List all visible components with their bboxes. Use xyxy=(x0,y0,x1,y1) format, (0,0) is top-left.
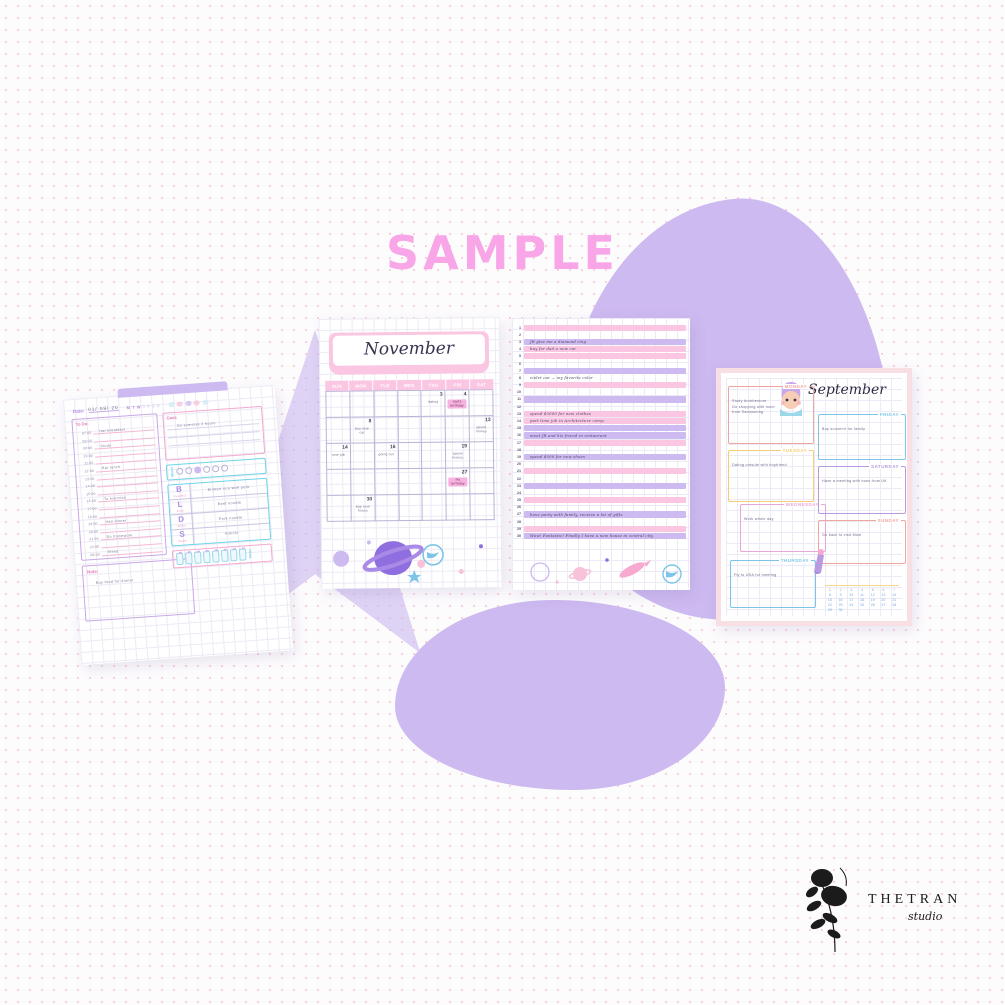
mini-calendar-day[interactable]: 16 xyxy=(836,598,846,602)
wish-row-number: 27 xyxy=(512,512,524,516)
mini-calendar-day[interactable]: 17 xyxy=(846,598,856,602)
calendar-day-number: 27 xyxy=(448,469,467,475)
calendar-cell[interactable]: 30buy new house xyxy=(351,495,375,521)
wish-row-bar[interactable]: have party with family, receive a lot of… xyxy=(524,511,686,517)
wish-row-number: 19 xyxy=(512,455,524,459)
weekday-header-sun: SUN xyxy=(325,381,349,391)
weekday-header-mon: MON xyxy=(349,380,373,390)
wish-list-row[interactable]: 16meet JR and his friend in restaurant xyxy=(512,432,686,439)
wish-row-bar[interactable] xyxy=(524,404,686,410)
mini-calendar-day[interactable]: 20 xyxy=(879,598,889,602)
wish-row-number: 10 xyxy=(512,390,524,394)
wish-row-number: 2 xyxy=(512,333,524,337)
weekday-m[interactable]: M xyxy=(126,405,130,410)
cloud-icon[interactable] xyxy=(168,401,174,406)
wish-row-bar[interactable] xyxy=(524,396,686,402)
calendar-cell[interactable] xyxy=(327,496,351,522)
wish-list-rows: 123JR give me a diamond ring4buy for dad… xyxy=(512,318,690,540)
mini-calendar-day[interactable]: 23 xyxy=(836,603,846,607)
wish-list-row[interactable]: 25 xyxy=(512,497,686,504)
mini-calendar-day[interactable]: 27 xyxy=(879,603,889,607)
day-box-thursday[interactable]: THURSDAY Fly to USA for meeting xyxy=(730,560,816,608)
calendar-event: buy new house xyxy=(353,504,372,512)
day-text-saturday: Have a meeting with boss from UK xyxy=(822,479,902,485)
wish-row-bar[interactable]: spend $3000 for new clothes xyxy=(524,411,686,417)
wish-row-number: 18 xyxy=(512,448,524,452)
mini-calendar-day[interactable]: 1 xyxy=(825,588,835,592)
wish-row-bar[interactable] xyxy=(524,461,686,467)
wish-row-bar[interactable] xyxy=(524,483,686,489)
calendar-event: dad's birthday xyxy=(448,399,467,408)
wish-row-number: 15 xyxy=(512,426,524,430)
meal-tracker: BbreakfastBroken rice with porkLlunchBee… xyxy=(167,477,271,546)
wish-row-number: 20 xyxy=(512,462,524,466)
wish-list-row[interactable]: 9 xyxy=(512,382,686,389)
wish-row-bar[interactable] xyxy=(524,325,686,331)
wish-row-number: 6 xyxy=(512,362,524,366)
wish-row-number: 26 xyxy=(512,505,524,509)
mini-calendar-day[interactable]: 4 xyxy=(857,588,867,592)
logo-sub: studio xyxy=(908,910,942,923)
mini-calendar: 1234567891011121314151617181920212223242… xyxy=(825,585,899,612)
water-tracker: Water xyxy=(172,543,273,568)
face-4-icon[interactable] xyxy=(203,466,210,473)
wish-list-row[interactable]: 7 xyxy=(512,367,686,374)
wish-row-number: 23 xyxy=(512,484,524,488)
september-title: September xyxy=(808,382,886,398)
calendar-cell[interactable]: 13spend money xyxy=(470,416,494,442)
mini-calendar-day[interactable]: 9 xyxy=(836,593,846,597)
wish-list-row[interactable]: 1 xyxy=(512,324,686,331)
wish-list-row[interactable]: 19spend $500 for new shoes xyxy=(512,453,686,460)
weekday-s2[interactable]: S xyxy=(157,403,160,408)
wish-row-number: 24 xyxy=(512,491,524,495)
wish-row-bar[interactable] xyxy=(524,440,686,446)
day-text-thursday: Fly to USA for meeting xyxy=(734,573,812,579)
wish-row-text: buy for dad a new car xyxy=(530,346,576,351)
space-illustration-list xyxy=(512,548,690,588)
wish-row-bar[interactable] xyxy=(524,497,686,503)
sample-watermark: SAMPLE xyxy=(0,226,1005,280)
meal-key: Bbreakfast xyxy=(168,484,191,500)
calendar-cell[interactable] xyxy=(374,391,398,417)
day-label-saturday: SATURDAY xyxy=(869,464,901,469)
wish-row-bar[interactable]: Wow! Fantastic! Finally I have a new hou… xyxy=(524,533,686,539)
calendar-cell[interactable] xyxy=(399,495,423,521)
wish-row-number: 5 xyxy=(512,354,524,358)
wish-row-text: JR give me a diamond ring xyxy=(530,339,586,344)
calendar-cell[interactable] xyxy=(446,416,470,442)
calendar-cell[interactable] xyxy=(375,495,399,521)
calendar-event: buy new car xyxy=(353,426,372,434)
september-weekly-page: September MONDAY Study Architecture Go s… xyxy=(716,368,912,626)
weekday-header-wed: WED xyxy=(398,380,422,390)
wish-row-bar[interactable] xyxy=(524,425,686,431)
wish-row-number: 17 xyxy=(512,441,524,445)
day-box-saturday[interactable]: SATURDAY Have a meeting with boss from U… xyxy=(818,466,906,514)
month-banner: November xyxy=(329,331,489,375)
mini-calendar-day[interactable]: 13 xyxy=(879,593,889,597)
calendar-cell[interactable] xyxy=(471,494,495,520)
meal-sub: supper xyxy=(178,538,187,543)
mini-calendar-days: 1234567891011121314151617181920212223242… xyxy=(825,588,899,612)
mini-calendar-day[interactable]: 28 xyxy=(889,603,899,607)
schedule-time: 00:00 xyxy=(85,552,102,557)
water-bottle-icon[interactable] xyxy=(203,550,211,562)
day-label-sunday: SUNDAY xyxy=(876,518,901,523)
calendar-cell[interactable] xyxy=(326,392,350,418)
space-illustration xyxy=(321,521,502,585)
calendar-cell[interactable] xyxy=(398,391,422,417)
weekday-header-fri: FRI xyxy=(446,379,470,389)
wish-row-number: 8 xyxy=(512,376,524,380)
calendar-cell[interactable] xyxy=(423,469,447,495)
poster-canvas: SAMPLE Date: 01/ 09/ 20 M T W T F S S xyxy=(0,0,1005,1005)
floral-logo-icon xyxy=(800,862,870,954)
calendar-cell[interactable]: 14new job xyxy=(327,444,351,470)
water-bottle-icon[interactable] xyxy=(212,550,220,562)
wish-row-bar[interactable]: part time job in Architecture comp. xyxy=(524,418,686,424)
wish-row-number: 16 xyxy=(512,433,524,437)
day-text-tuesday: Dating outside with boyfriend xyxy=(732,463,810,469)
day-text-sunday: Go back to visit Mom xyxy=(822,533,902,539)
water-bottle-icon[interactable] xyxy=(239,548,247,560)
wish-row-bar[interactable] xyxy=(524,468,686,474)
weekday-header-tue: TUE xyxy=(374,380,398,390)
calendar-cell[interactable] xyxy=(374,417,398,443)
calendar-cell[interactable]: 19spend money xyxy=(446,442,470,468)
calendar-cell[interactable] xyxy=(423,495,447,521)
wish-row-number: 29 xyxy=(512,527,524,531)
calendar-event: spend money xyxy=(472,425,491,433)
date-label: Date: xyxy=(73,408,85,414)
wish-row-number: 13 xyxy=(512,412,524,416)
calendar-day-number: 14 xyxy=(329,445,348,451)
wish-list-row[interactable]: 29 xyxy=(512,525,686,532)
weekday-header-thu: THU xyxy=(422,380,446,390)
calendar-cell[interactable] xyxy=(470,442,494,468)
wish-list-row[interactable]: 15 xyxy=(512,425,686,432)
wish-row-number: 22 xyxy=(512,477,524,481)
wish-list-row[interactable]: 4buy for dad a new car xyxy=(512,346,686,353)
calendar-day-number: 8 xyxy=(352,418,371,424)
wish-row-bar[interactable] xyxy=(524,490,686,496)
mini-calendar-day[interactable]: 26 xyxy=(868,603,878,607)
wish-list-row[interactable]: 21 xyxy=(512,468,686,475)
wish-row-text: violet car — my favorite color xyxy=(530,375,593,380)
wish-list-row[interactable]: 26 xyxy=(512,504,686,511)
wish-list-row[interactable]: 14part time job in Architecture comp. xyxy=(512,417,686,424)
face-3-selected-icon[interactable] xyxy=(194,467,201,474)
meal-key: Ssupper xyxy=(171,529,194,545)
wish-row-bar[interactable]: spend $500 for new shoes xyxy=(524,454,686,460)
day-label-monday: MONDAY xyxy=(783,384,809,389)
mini-calendar-day[interactable]: 5 xyxy=(868,588,878,592)
wish-row-number: 4 xyxy=(512,347,524,351)
calendar-event: my birthday xyxy=(449,477,468,486)
schedule-task: Do homework xyxy=(107,533,133,539)
meal-key: Llunch xyxy=(169,499,192,515)
calendar-day-number: 30 xyxy=(353,496,372,502)
weekday-t2[interactable]: T xyxy=(143,404,146,409)
wish-row-text: have party with family, receive a lot of… xyxy=(530,512,623,517)
wish-row-bar[interactable] xyxy=(524,526,686,532)
wish-row-bar[interactable]: violet car — my favorite color xyxy=(524,375,686,381)
day-box-friday[interactable]: FRIDAY Buy souvenir for family xyxy=(818,414,906,460)
day-box-wednesday[interactable]: WEDNESDAY Work whole day xyxy=(740,504,826,552)
calendar-cell[interactable] xyxy=(422,443,446,469)
wish-list-row[interactable]: 22 xyxy=(512,475,686,482)
november-calendar-page: November SUNMONTUEWEDTHUFRISAT 3dating4d… xyxy=(319,317,502,589)
wish-row-bar[interactable] xyxy=(524,332,686,338)
water-bottle-icon[interactable] xyxy=(194,551,202,563)
wish-list-row[interactable]: 5 xyxy=(512,353,686,360)
wish-row-bar[interactable]: buy for dad a new car xyxy=(524,346,686,352)
mini-calendar-day[interactable]: 12 xyxy=(868,593,878,597)
face-1-icon[interactable] xyxy=(176,468,183,475)
wish-row-number: 11 xyxy=(512,397,524,401)
mood-box: Mood xyxy=(166,458,267,481)
mini-calendar-day[interactable]: 25 xyxy=(857,603,867,607)
wish-list-row[interactable]: 13spend $3000 for new clothes xyxy=(512,410,686,417)
wish-row-bar[interactable]: meet JR and his friend in restaurant xyxy=(524,432,686,438)
calendar-cell[interactable] xyxy=(470,468,494,494)
wish-list-row[interactable]: 2 xyxy=(512,331,686,338)
schedule-task: Har breakfast xyxy=(99,427,125,433)
wish-row-number: 25 xyxy=(512,498,524,502)
storm-icon[interactable] xyxy=(185,400,191,405)
schedule-task: Study xyxy=(100,443,111,448)
day-text-wednesday: Work whole day xyxy=(744,517,822,523)
weather-selector[interactable] xyxy=(168,399,208,407)
calendar-day-number: 19 xyxy=(448,443,467,449)
wish-list-row[interactable]: 28 xyxy=(512,518,686,525)
wind-icon[interactable] xyxy=(202,399,208,404)
wish-row-number: 7 xyxy=(512,369,524,373)
day-label-thursday: THURSDAY xyxy=(779,558,811,563)
logo-name: THETRAN xyxy=(868,892,961,908)
schedule-line[interactable]: Sleep xyxy=(102,551,163,556)
day-text-friday: Buy souvenir for family xyxy=(822,427,902,433)
weekday-header-sat: SAT xyxy=(470,379,493,389)
calendar-cell[interactable]: 8buy new car xyxy=(350,417,374,443)
background-blob-bottom xyxy=(395,600,725,790)
calendar-cell[interactable] xyxy=(375,469,399,495)
goal-box: Goal: Do exercise 2 hours xyxy=(162,406,265,461)
wish-row-text: meet JR and his friend in restaurant xyxy=(530,433,607,438)
calendar-event: dating xyxy=(424,399,443,403)
schedule-task: Sleep xyxy=(108,549,119,554)
brand-logo: THETRAN studio xyxy=(800,862,975,954)
wish-list-row[interactable]: 10 xyxy=(512,389,686,396)
calendar-cell[interactable] xyxy=(398,417,422,443)
face-6-icon[interactable] xyxy=(221,465,228,472)
day-box-tuesday[interactable]: TUESDAY Dating outside with boyfriend xyxy=(728,450,814,502)
wish-list-row[interactable]: 23 xyxy=(512,482,686,489)
calendar-event: going out xyxy=(377,452,396,456)
calendar-day-number: 13 xyxy=(472,417,491,423)
face-5-icon[interactable] xyxy=(212,465,219,472)
wish-row-bar[interactable] xyxy=(524,504,686,510)
mini-calendar-day[interactable]: 7 xyxy=(889,588,899,592)
weekday-f[interactable]: F xyxy=(147,403,150,408)
water-label: Water xyxy=(248,549,253,559)
daily-planner-page: Date: 01/ 09/ 20 M T W T F S S xyxy=(63,385,293,665)
day-label-friday: FRIDAY xyxy=(878,412,901,417)
water-bottle-icon[interactable] xyxy=(185,552,193,564)
calendar-cell[interactable] xyxy=(398,443,422,469)
wish-list-page: 123JR give me a diamond ring4buy for dad… xyxy=(512,318,690,590)
weekday-s1[interactable]: S xyxy=(152,403,155,408)
calendar-cell[interactable] xyxy=(351,469,375,495)
wish-row-bar[interactable] xyxy=(524,389,686,395)
calendar-cell[interactable] xyxy=(351,443,375,469)
calendar-cell[interactable] xyxy=(422,417,446,443)
wish-list-row[interactable]: 24 xyxy=(512,489,686,496)
calendar-day-number: 16 xyxy=(377,444,396,450)
wish-row-bar[interactable] xyxy=(524,475,686,481)
mini-calendar-day[interactable]: 19 xyxy=(868,598,878,602)
wish-list-row[interactable]: 17 xyxy=(512,439,686,446)
wish-row-bar[interactable] xyxy=(524,353,686,359)
mini-calendar-day[interactable]: 22 xyxy=(825,603,835,607)
meal-sub: lunch xyxy=(177,508,184,512)
schedule-task: Han dinner xyxy=(105,518,126,523)
calendar-cell[interactable]: 3dating xyxy=(422,391,446,417)
month-title: November xyxy=(329,331,489,375)
weekday-w[interactable]: W xyxy=(137,404,141,409)
mini-calendar-day[interactable]: 21 xyxy=(889,598,899,602)
day-label-tuesday: TUESDAY xyxy=(781,448,809,453)
wish-row-bar[interactable] xyxy=(524,519,686,525)
mini-calendar-day[interactable]: 30 xyxy=(836,608,846,612)
wish-list-row[interactable]: 20 xyxy=(512,461,686,468)
face-2-icon[interactable] xyxy=(185,467,192,474)
mini-calendar-day[interactable]: 15 xyxy=(825,598,835,602)
wish-row-bar[interactable] xyxy=(524,382,686,388)
wish-row-number: 28 xyxy=(512,520,524,524)
mini-calendar-day[interactable]: 6 xyxy=(879,588,889,592)
wish-row-number: 3 xyxy=(512,340,524,344)
day-text-monday: Study Architecture Go shopping with mom … xyxy=(732,399,810,416)
rain-icon[interactable] xyxy=(177,401,183,406)
wish-row-number: 14 xyxy=(512,419,524,423)
water-bottle-icon[interactable] xyxy=(230,549,238,561)
mini-calendar-day[interactable]: 3 xyxy=(846,588,856,592)
sun-rain-icon[interactable] xyxy=(194,400,200,405)
wish-list-row[interactable]: 6 xyxy=(512,360,686,367)
todo-box: To Do: 07:00Har breakfast08:0009:00Study… xyxy=(71,413,167,560)
september-inner: September MONDAY Study Architecture Go s… xyxy=(726,378,902,616)
schedule-task: To exercise xyxy=(104,495,126,501)
meal-sub: dinner xyxy=(177,523,186,528)
wish-list-row[interactable]: 27have party with family, receive a lot … xyxy=(512,511,686,518)
wish-list-row[interactable]: 3JR give me a diamond ring xyxy=(512,338,686,345)
wish-row-number: 30 xyxy=(512,534,524,538)
wish-list-row[interactable]: 12 xyxy=(512,403,686,410)
weekday-selector[interactable]: M T W T F S S xyxy=(126,403,159,410)
wish-row-number: 1 xyxy=(512,326,524,330)
meal-key: Ddinner xyxy=(170,514,193,530)
wish-row-number: 21 xyxy=(512,469,524,473)
mini-calendar-day[interactable]: 29 xyxy=(825,608,835,612)
calendar-weekday-header: SUNMONTUEWEDTHUFRISAT xyxy=(325,379,493,391)
mini-calendar-bar xyxy=(825,585,899,586)
wish-row-number: 12 xyxy=(512,405,524,409)
mini-calendar-day[interactable]: 11 xyxy=(857,593,867,597)
weekday-t1[interactable]: T xyxy=(132,404,135,409)
mood-label: Mood xyxy=(170,467,175,477)
wish-row-number: 9 xyxy=(512,383,524,387)
pencil-icon xyxy=(810,548,832,574)
calendar-cell[interactable]: 4dad's birthday xyxy=(446,390,470,416)
water-bottle-icon[interactable] xyxy=(176,552,184,564)
calendar-grid: 3dating4dad's birthday8buy new car13spen… xyxy=(325,389,494,522)
calendar-day-number: 3 xyxy=(424,392,443,398)
mini-calendar-day[interactable]: 24 xyxy=(846,603,856,607)
calendar-cell[interactable] xyxy=(399,469,423,495)
day-box-monday[interactable]: MONDAY Study Architecture Go shopping wi… xyxy=(728,386,814,444)
calendar-cell[interactable] xyxy=(350,391,374,417)
calendar-event: new job xyxy=(329,452,348,456)
wish-list-row[interactable]: 30Wow! Fantastic! Finally I have a new h… xyxy=(512,532,686,539)
mini-calendar-day[interactable]: 18 xyxy=(857,598,867,602)
mini-calendar-day[interactable]: 14 xyxy=(889,593,899,597)
schedule-task: Har lunch xyxy=(102,465,121,470)
mini-calendar-day[interactable]: 10 xyxy=(846,593,856,597)
wish-row-bar[interactable] xyxy=(524,360,686,366)
calendar-day-number: 4 xyxy=(448,391,467,397)
meal-sub: breakfast xyxy=(173,493,186,498)
calendar-cell[interactable] xyxy=(327,418,351,444)
calendar-cell[interactable] xyxy=(469,390,493,416)
day-label-wednesday: WEDNESDAY xyxy=(784,502,821,507)
wish-row-bar[interactable]: JR give me a diamond ring xyxy=(524,339,686,345)
calendar-cell[interactable] xyxy=(327,470,351,496)
calendar-cell[interactable]: 27my birthday xyxy=(446,468,470,494)
water-bottle-icon[interactable] xyxy=(221,549,229,561)
wish-list-row[interactable]: 8violet car — my favorite color xyxy=(512,374,686,381)
wish-row-text: part time job in Architecture comp. xyxy=(530,418,605,423)
schedule-list: 07:00Har breakfast08:0009:00Study10:0011… xyxy=(76,423,163,557)
calendar-cell[interactable]: 16going out xyxy=(375,443,399,469)
wish-list-row[interactable]: 18 xyxy=(512,446,686,453)
wish-row-text: Wow! Fantastic! Finally I have a new hou… xyxy=(530,533,654,538)
mini-calendar-day[interactable]: 8 xyxy=(825,593,835,597)
mini-calendar-day[interactable]: 2 xyxy=(836,588,846,592)
date-value[interactable]: 01/ 09/ 20 xyxy=(88,405,119,413)
wish-row-text: spend $3000 for new clothes xyxy=(530,411,591,416)
wish-row-bar[interactable] xyxy=(524,368,686,374)
wish-row-text: spend $500 for new shoes xyxy=(530,454,585,459)
wish-row-bar[interactable] xyxy=(524,447,686,453)
calendar-event: spend money xyxy=(448,451,467,459)
wish-list-row[interactable]: 11 xyxy=(512,396,686,403)
calendar-cell[interactable] xyxy=(447,494,471,520)
